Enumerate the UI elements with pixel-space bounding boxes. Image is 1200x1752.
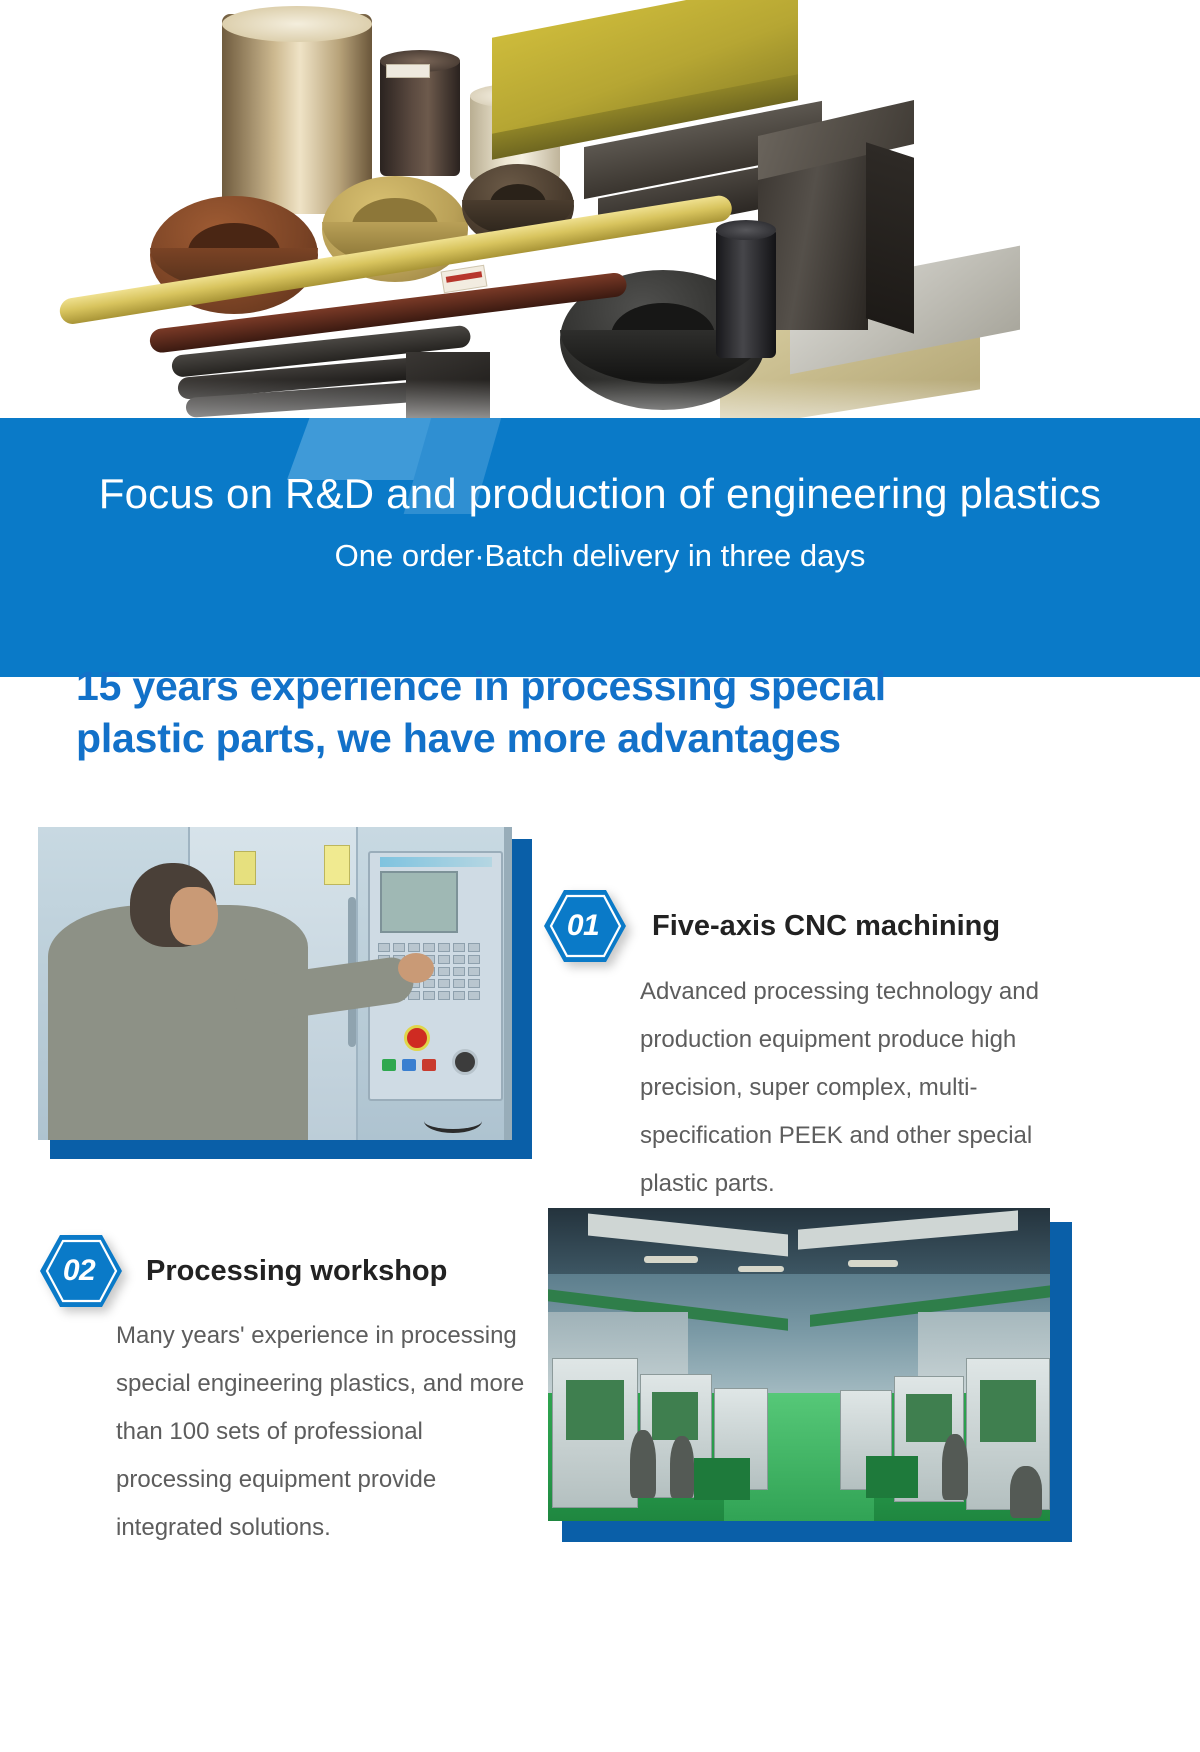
cnc-screen xyxy=(380,871,458,933)
card-02-description: Many years' experience in processing spe… xyxy=(116,1312,536,1552)
hero-plastics-photo xyxy=(0,0,1200,420)
cnc-machine-left-2-door xyxy=(652,1392,698,1440)
ceiling-light-3 xyxy=(848,1260,898,1267)
cnc-machine-right-1-door xyxy=(980,1380,1036,1442)
ceiling-light-2 xyxy=(738,1266,784,1272)
worker-left-1 xyxy=(630,1430,656,1498)
section-title-line-1: 15 years experience in processing specia… xyxy=(76,663,886,709)
operator-face xyxy=(170,887,218,945)
hero-photo-canvas xyxy=(0,0,1200,420)
tan-cylinder-top-face xyxy=(222,6,372,42)
cnc-indicator-blue xyxy=(402,1059,416,1071)
card-02-image xyxy=(548,1208,1050,1521)
cnc-machine-right-2-door xyxy=(906,1394,952,1442)
worker-right-2 xyxy=(1010,1466,1042,1518)
cnc-panel-buttons-top xyxy=(380,857,492,867)
card-02-header: 02 Processing workshop xyxy=(38,1233,447,1309)
product-detail-page: Focus on R&D and production of engineeri… xyxy=(0,0,1200,1752)
card-01-title: Five-axis CNC machining xyxy=(652,910,1000,943)
card-01-image-container xyxy=(38,827,520,1147)
cnc-indicator-green xyxy=(382,1059,396,1071)
operator-hand xyxy=(398,953,434,983)
worker-left-2 xyxy=(670,1436,694,1498)
card-02-number-badge: 02 xyxy=(38,1233,124,1309)
hero-bottom-fade xyxy=(0,330,1200,420)
dark-block-large-side xyxy=(866,142,914,334)
card-01-image xyxy=(38,827,512,1140)
card-01-description: Advanced processing technology and produ… xyxy=(640,968,1085,1208)
section-title-line-2: plastic parts, we have more advantages xyxy=(76,712,1086,764)
worker-right-1 xyxy=(942,1434,968,1500)
tan-cylinder-large xyxy=(222,14,372,214)
cnc-door-right xyxy=(504,827,512,1140)
product-label-1 xyxy=(386,64,430,78)
banner-subheadline: One order·Batch delivery in three days xyxy=(0,538,1200,574)
card-02-title: Processing workshop xyxy=(146,1255,447,1288)
cnc-warning-sticker-1 xyxy=(234,851,256,885)
card-02-image-container xyxy=(548,1208,1058,1528)
material-cart-right xyxy=(866,1456,918,1498)
card-02-number: 02 xyxy=(38,1233,124,1309)
black-rod-top xyxy=(716,220,776,240)
card-01-number: 01 xyxy=(542,888,628,964)
promo-banner: Focus on R&D and production of engineeri… xyxy=(0,418,1200,677)
cnc-cable xyxy=(424,1109,482,1133)
banner-headline: Focus on R&D and production of engineeri… xyxy=(0,470,1200,518)
emergency-stop-button xyxy=(404,1025,430,1051)
cnc-indicator-red xyxy=(422,1059,436,1071)
cnc-selector-knob xyxy=(452,1049,478,1075)
card-01-number-badge: 01 xyxy=(542,888,628,964)
material-cart-left xyxy=(694,1458,750,1500)
card-01-header: 01 Five-axis CNC machining xyxy=(542,888,1000,964)
cnc-machine-left-1-door xyxy=(566,1380,624,1440)
section-title: 15 years experience in processing specia… xyxy=(76,660,1086,764)
cnc-warning-sticker-2 xyxy=(324,845,350,885)
ceiling-light-1 xyxy=(644,1256,698,1263)
